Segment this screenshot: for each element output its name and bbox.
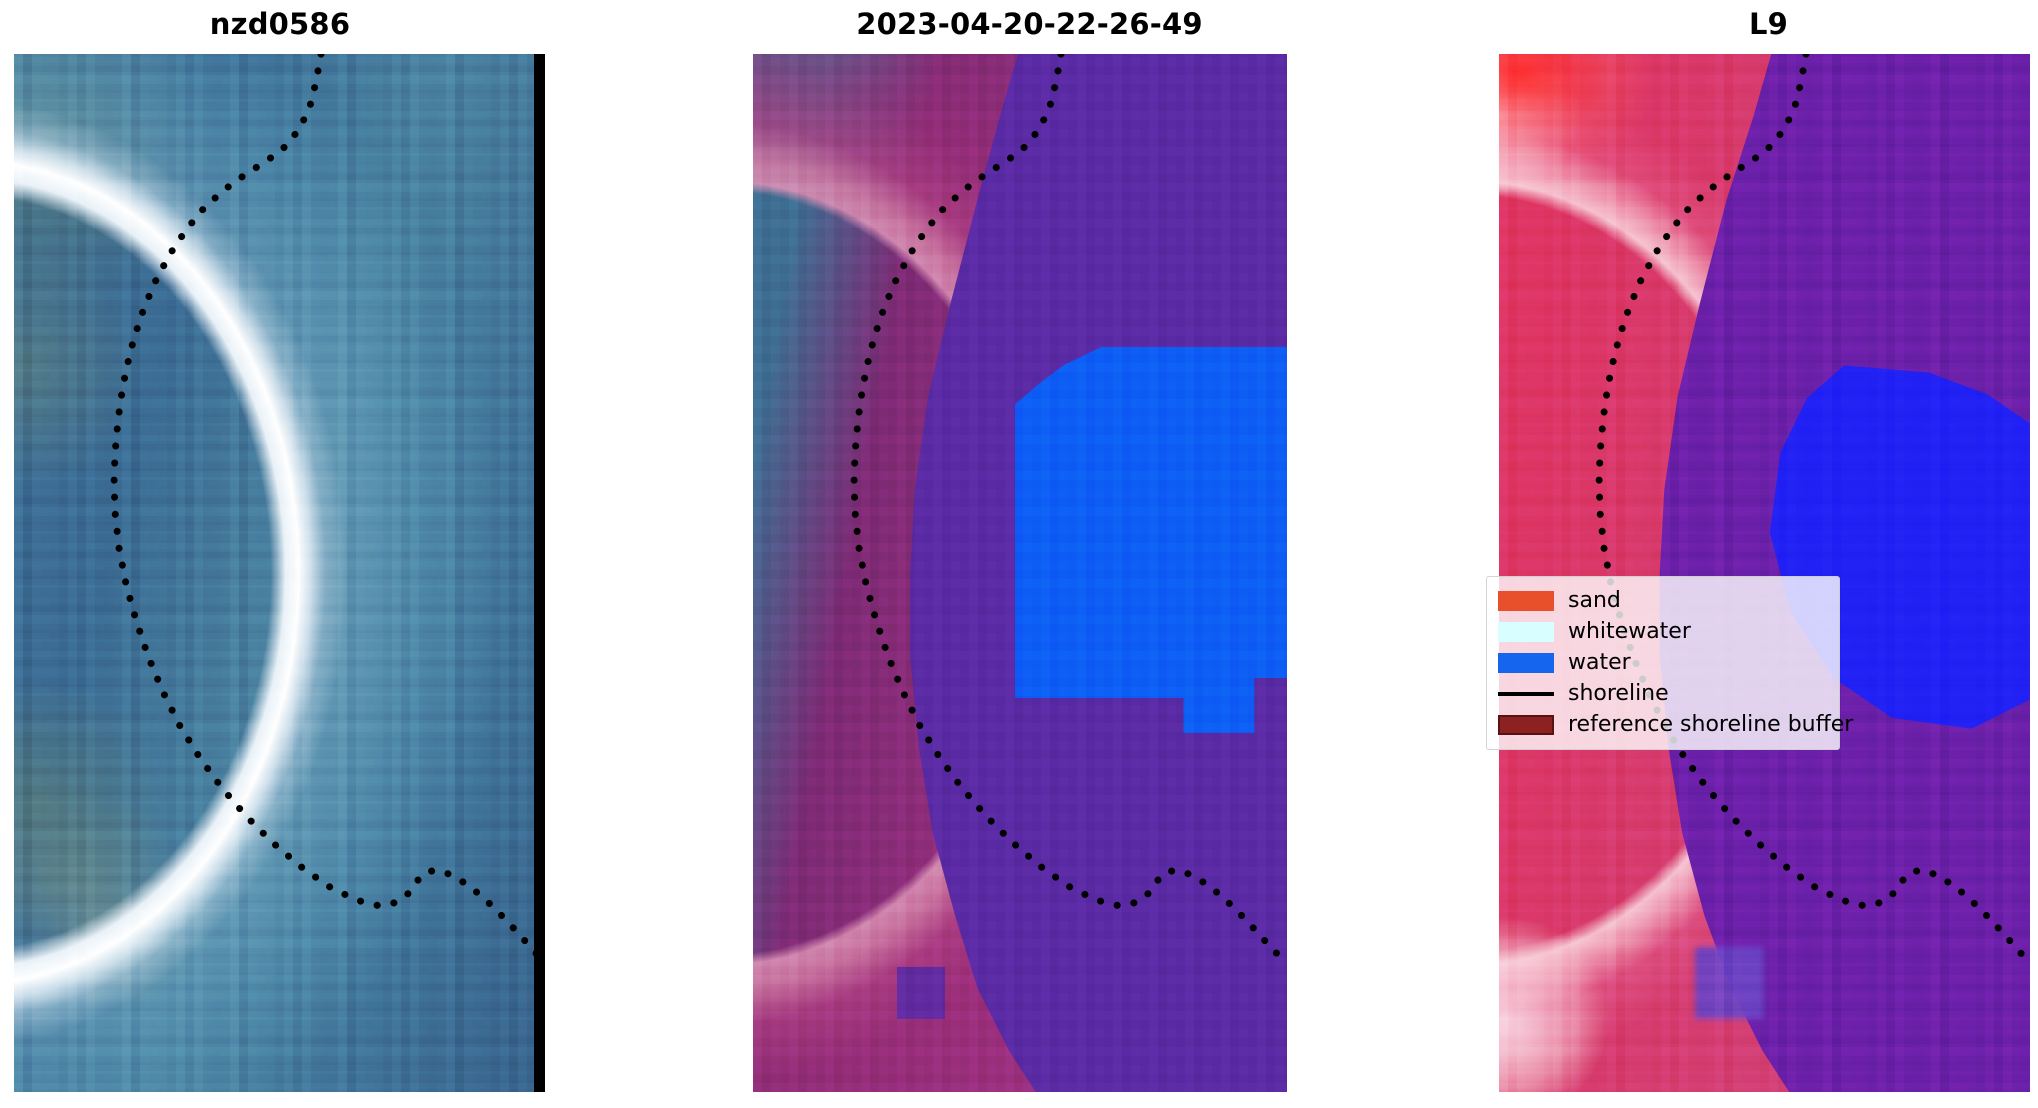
- panel-rgb-title: nzd0586: [0, 4, 560, 44]
- panel-index-axes[interactable]: [1499, 54, 2030, 1092]
- legend-swatch-shoreline: [1498, 683, 1554, 705]
- shoreline-detection-figure: nzd0586 2023-04-20-22-26-49: [0, 0, 2038, 1108]
- panel-index-title: L9: [1499, 4, 2038, 44]
- legend-item-water[interactable]: water: [1498, 647, 1828, 678]
- legend-label-whitewater: whitewater: [1568, 621, 1691, 643]
- legend: sand whitewater water shoreline: [1486, 576, 1840, 750]
- rgb-nodata-strip: [534, 54, 545, 1092]
- legend-item-shoreline[interactable]: shoreline: [1498, 678, 1828, 709]
- legend-swatch-water: [1498, 652, 1554, 674]
- legend-label-water: water: [1568, 652, 1631, 674]
- classified-pixel-texture: [753, 54, 1287, 1092]
- legend-item-reference-shoreline-buffer[interactable]: reference shoreline buffer: [1498, 709, 1828, 740]
- legend-swatch-whitewater: [1498, 621, 1554, 643]
- legend-swatch-sand: [1498, 590, 1554, 612]
- panel-rgb-axes[interactable]: [14, 54, 545, 1092]
- legend-label-shoreline: shoreline: [1568, 683, 1669, 705]
- legend-label-reference-shoreline-buffer: reference shoreline buffer: [1568, 714, 1853, 736]
- rgb-pixel-texture-coarse: [14, 54, 545, 1092]
- rgb-satellite-raster: [14, 54, 545, 1092]
- index-raster: [1499, 54, 2030, 1092]
- panel-classified-title: 2023-04-20-22-26-49: [560, 4, 1499, 44]
- panel-classified-axes[interactable]: [753, 54, 1287, 1092]
- legend-item-sand[interactable]: sand: [1498, 585, 1828, 616]
- legend-label-sand: sand: [1568, 590, 1621, 612]
- panel-rgb: nzd0586: [0, 0, 560, 1108]
- index-pixel-texture-coarse: [1499, 54, 2030, 1092]
- classified-raster: [753, 54, 1287, 1092]
- panel-index: L9: [1499, 0, 2038, 1108]
- panel-classified: 2023-04-20-22-26-49 sand: [560, 0, 1499, 1108]
- legend-swatch-reference-shoreline-buffer: [1498, 714, 1554, 736]
- legend-item-whitewater[interactable]: whitewater: [1498, 616, 1828, 647]
